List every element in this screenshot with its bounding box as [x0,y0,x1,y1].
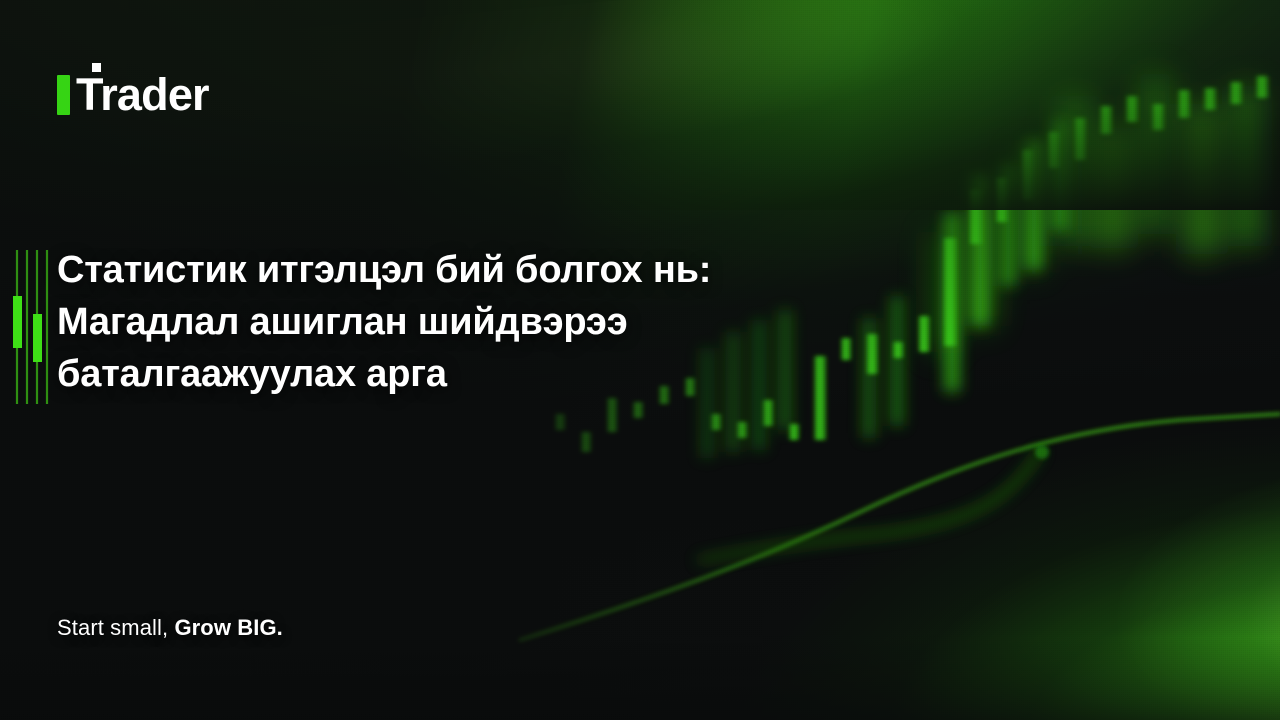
brand-tagline: Start small, Grow BIG. [57,615,283,641]
trend-line [520,414,1280,640]
logo-square-dot-icon [92,63,101,72]
headline-line-2: Магадлал ашиглан шийдвэрээ [57,296,877,348]
tagline-regular: Start small, [57,615,174,640]
marketing-banner: Trader Статистик итгэлцэл бий болгох нь:… [0,0,1280,720]
logo-wordmark-text: Trader [76,69,209,120]
brand-logo[interactable]: Trader [57,63,209,115]
tagline-strong: Grow BIG. [174,615,282,640]
headline-line-1: Статистик итгэлцэл бий болгох нь: [57,244,877,296]
candlestick-accent-icon [8,248,50,406]
headline-line-3: баталгаажуулах арга [57,348,877,400]
logo-i-bar [57,75,70,115]
page-title: Статистик итгэлцэл бий болгох нь: Магадл… [57,244,877,400]
logo-wordmark: Trader [76,75,209,115]
